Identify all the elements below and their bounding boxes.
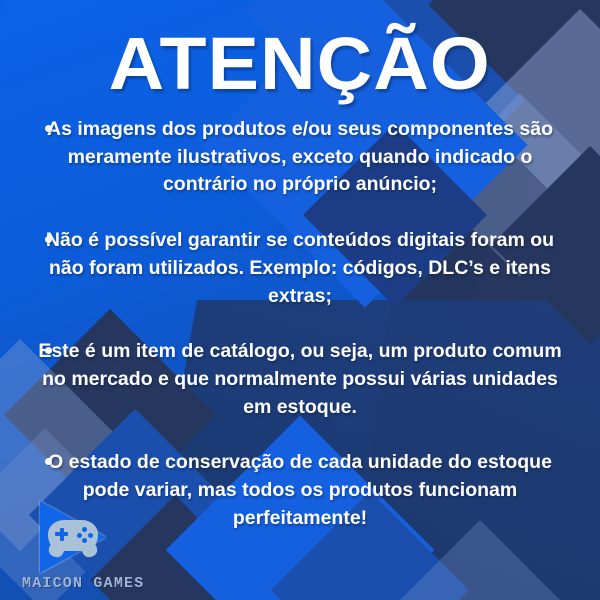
gamepad-button-top-icon	[82, 527, 87, 532]
list-item-text: Não é possível garantir se conteúdos dig…	[34, 227, 566, 310]
page-title: ATENÇÃO	[109, 30, 491, 98]
gamepad-button-bottom-icon	[82, 538, 87, 543]
list-item: Não é possível garantir se conteúdos dig…	[0, 227, 600, 310]
list-item: As imagens dos produtos e/ou seus compon…	[0, 116, 600, 199]
list-item-text: Este é um item de catálogo, ou seja, um …	[34, 338, 566, 421]
dpad-vertical-icon	[60, 528, 64, 541]
brand-logo: MAICON GAMES	[22, 501, 172, 592]
list-item: Este é um item de catálogo, ou seja, um …	[0, 338, 600, 421]
gamepad-play-icon	[34, 501, 118, 573]
list-item-text: As imagens dos produtos e/ou seus compon…	[34, 116, 566, 199]
gamepad-button-right-icon	[88, 533, 93, 538]
gamepad-body-icon	[48, 520, 98, 551]
bullet-list: As imagens dos produtos e/ou seus compon…	[0, 116, 600, 554]
attention-banner: ATENÇÃO As imagens dos produtos e/ou seu…	[0, 0, 600, 600]
brand-name: MAICON GAMES	[22, 575, 172, 592]
gamepad-button-left-icon	[77, 533, 82, 538]
